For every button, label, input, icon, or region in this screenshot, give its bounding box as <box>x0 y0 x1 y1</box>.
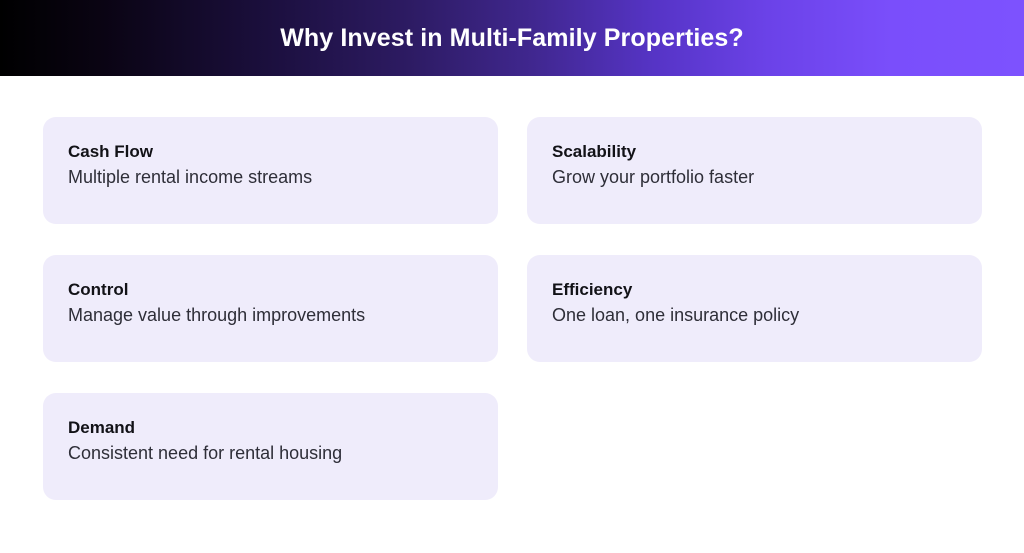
benefit-card-demand[interactable]: Demand Consistent need for rental housin… <box>43 393 498 500</box>
benefit-card-title: Scalability <box>552 141 956 162</box>
benefit-card-efficiency[interactable]: Efficiency One loan, one insurance polic… <box>527 255 982 362</box>
card-row-1: Cash Flow Multiple rental income streams… <box>43 117 982 224</box>
benefit-card-title: Demand <box>68 417 472 438</box>
benefit-card-description: One loan, one insurance policy <box>552 304 956 327</box>
benefit-card-scalability[interactable]: Scalability Grow your portfolio faster <box>527 117 982 224</box>
benefit-card-grid: Cash Flow Multiple rental income streams… <box>43 117 982 500</box>
empty-grid-slot <box>527 393 982 500</box>
benefit-card-description: Grow your portfolio faster <box>552 166 956 189</box>
card-row-3: Demand Consistent need for rental housin… <box>43 393 982 500</box>
benefit-card-title: Control <box>68 279 472 300</box>
card-row-2: Control Manage value through improvement… <box>43 255 982 362</box>
benefit-card-control[interactable]: Control Manage value through improvement… <box>43 255 498 362</box>
benefit-card-title: Efficiency <box>552 279 956 300</box>
benefit-card-cash-flow[interactable]: Cash Flow Multiple rental income streams <box>43 117 498 224</box>
benefit-card-title: Cash Flow <box>68 141 472 162</box>
page-title: Why Invest in Multi-Family Properties? <box>260 26 764 51</box>
slide-root: Why Invest in Multi-Family Properties? C… <box>0 0 1024 553</box>
benefit-card-description: Manage value through improvements <box>68 304 472 327</box>
benefit-card-description: Consistent need for rental housing <box>68 442 472 465</box>
benefit-card-description: Multiple rental income streams <box>68 166 472 189</box>
header-banner: Why Invest in Multi-Family Properties? <box>0 0 1024 76</box>
